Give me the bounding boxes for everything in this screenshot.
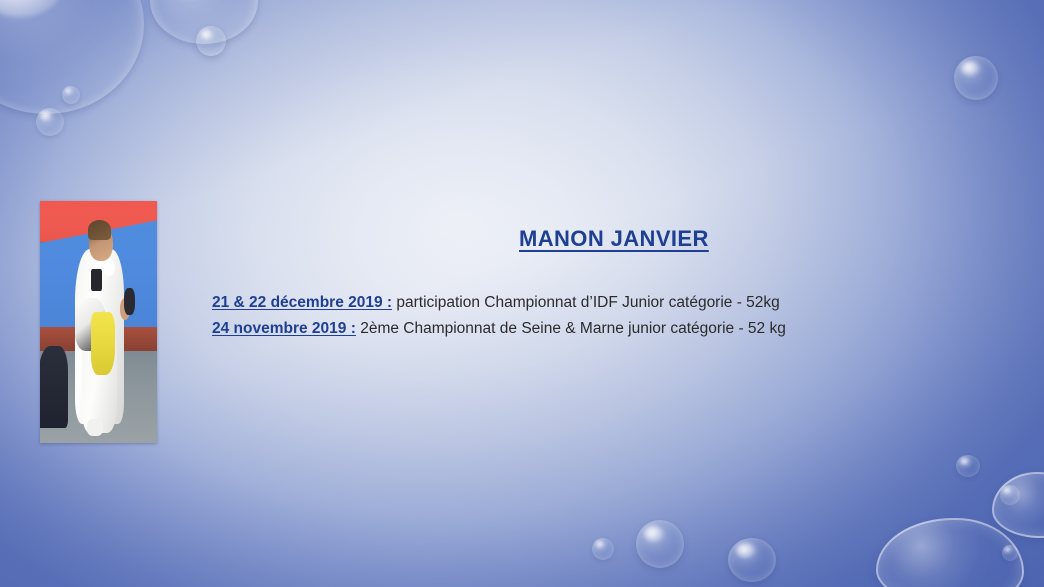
photo-athlete-foot xyxy=(87,419,103,436)
photo-athlete-glove xyxy=(124,288,135,315)
photo-athlete-hair xyxy=(88,220,111,239)
result-entry-1-date: 21 & 22 décembre 2019 : xyxy=(212,294,392,311)
presentation-slide: MANON JANVIER 21 & 22 décembre 2019 : pa… xyxy=(0,0,1044,587)
result-entry-1-description: participation Championnat d’IDF Junior c… xyxy=(392,294,780,311)
athlete-photo xyxy=(40,201,157,443)
result-entry-1: 21 & 22 décembre 2019 : participation Ch… xyxy=(212,290,912,316)
photo-background-figure xyxy=(40,346,68,428)
photo-chest-marking xyxy=(91,269,102,291)
photo-shoulder-patch xyxy=(103,259,115,276)
slide-title: MANON JANVIER xyxy=(519,226,709,252)
results-text-block: 21 & 22 décembre 2019 : participation Ch… xyxy=(212,290,912,342)
result-entry-2-date: 24 novembre 2019 : xyxy=(212,320,356,337)
result-entry-2-description: 2ème Championnat de Seine & Marne junior… xyxy=(356,320,786,337)
result-entry-2: 24 novembre 2019 : 2ème Championnat de S… xyxy=(212,316,912,342)
photo-yellow-belt xyxy=(91,312,114,375)
